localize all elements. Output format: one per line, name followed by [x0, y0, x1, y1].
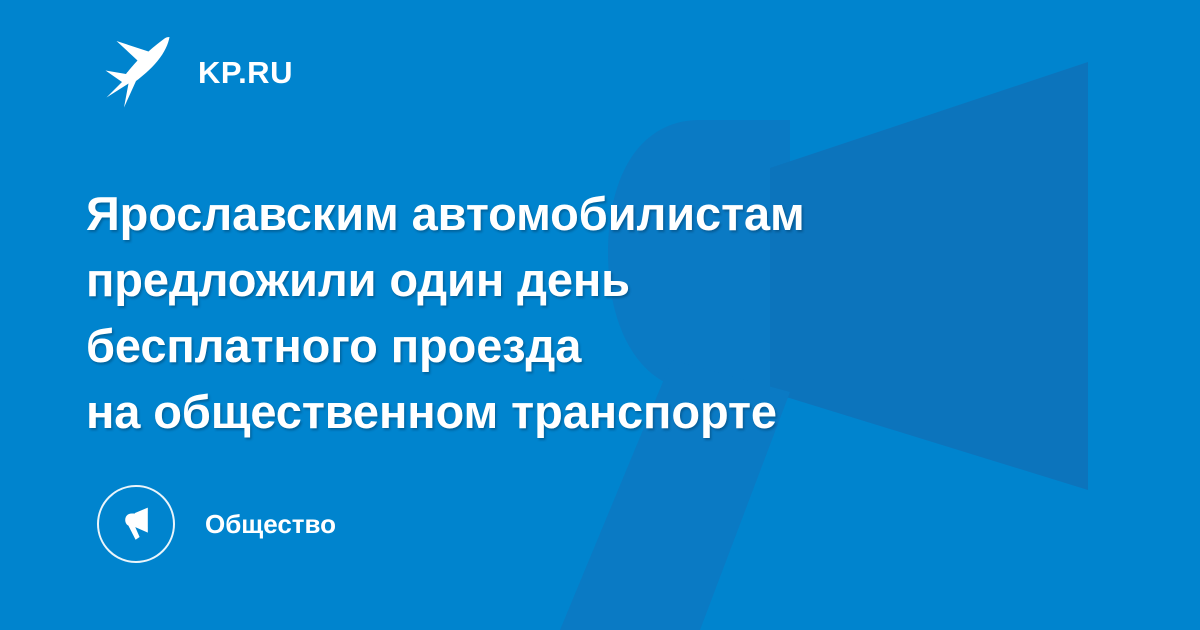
category-label: Общество — [205, 511, 336, 537]
megaphone-icon — [115, 503, 157, 545]
headline-line-3: бесплатного проезда — [86, 313, 1096, 379]
site-logo[interactable]: KP.RU — [104, 34, 293, 110]
headline-line-1: Ярославским автомобилистам — [86, 181, 1096, 247]
swallow-bird-icon — [104, 35, 176, 109]
article-share-card: KP.RU Ярославским автомобилистам предлож… — [0, 0, 1200, 630]
headline-line-2: предложили один день — [86, 247, 1096, 313]
headline-line-4: на общественном транспорте — [86, 379, 1096, 445]
category-icon-circle — [97, 485, 175, 563]
headline: Ярославским автомобилистам предложили од… — [86, 181, 1096, 445]
category-badge[interactable]: Общество — [97, 485, 336, 563]
brand-name: KP.RU — [198, 57, 293, 88]
